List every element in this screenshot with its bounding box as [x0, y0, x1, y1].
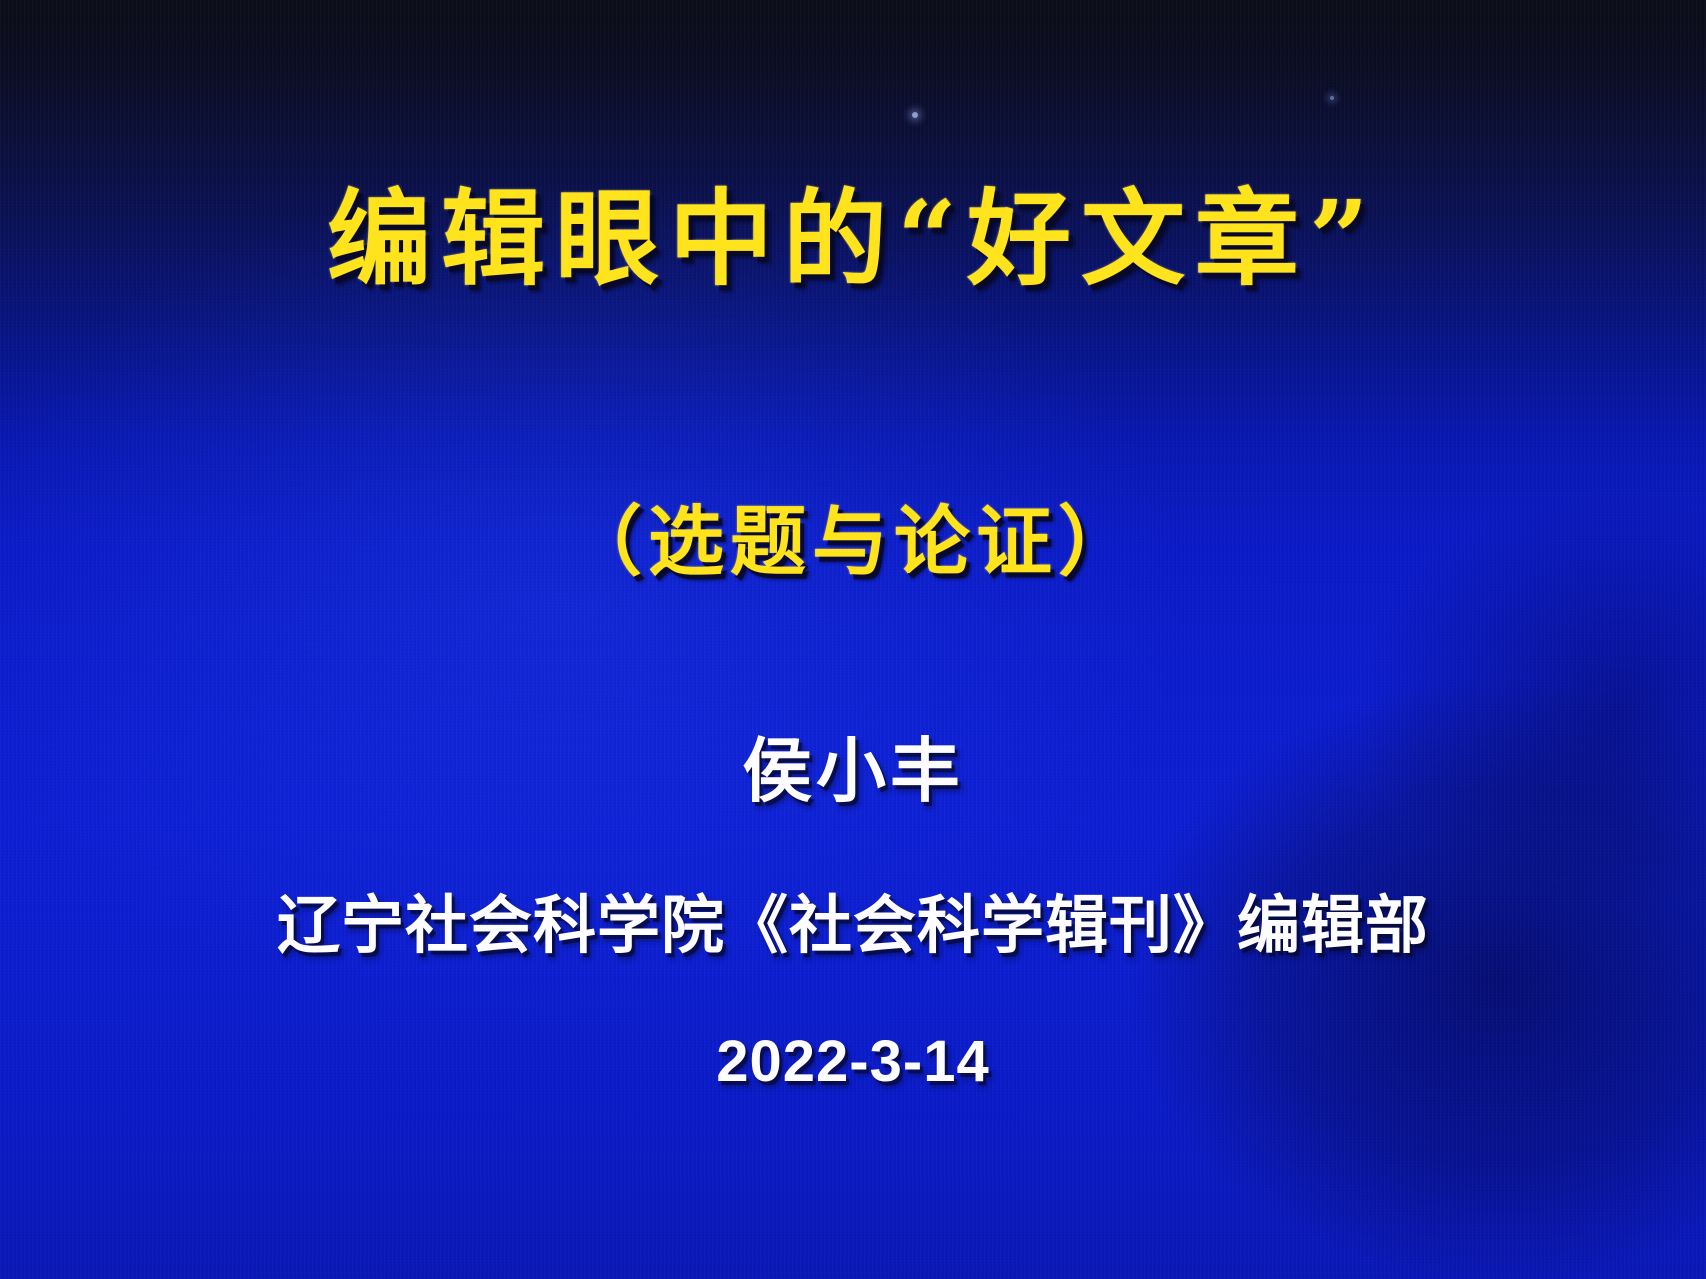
slide-subtitle: （选题与论证） — [0, 498, 1706, 585]
presentation-date: 2022-3-14 — [0, 1027, 1706, 1097]
slide-title: 编辑眼中的“好文章” — [0, 178, 1706, 301]
presentation-slide: 编辑眼中的“好文章” （选题与论证） 侯小丰 辽宁社会科学院《社会科学辑刊》编辑… — [0, 0, 1706, 1279]
presenter-name: 侯小丰 — [0, 731, 1706, 812]
slide-content: 编辑眼中的“好文章” （选题与论证） 侯小丰 辽宁社会科学院《社会科学辑刊》编辑… — [0, 0, 1706, 1279]
presenter-affiliation: 辽宁社会科学院《社会科学辑刊》编辑部 — [0, 888, 1706, 964]
